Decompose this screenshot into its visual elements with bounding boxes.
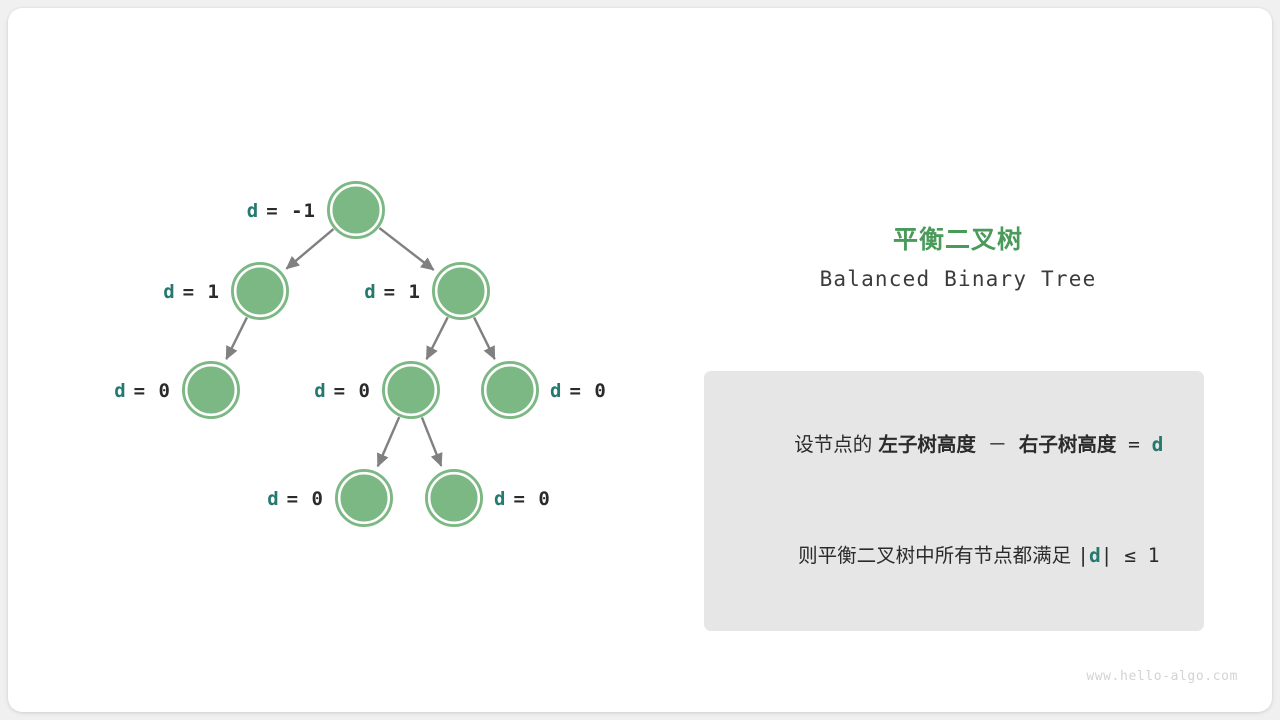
tree-node[interactable] <box>328 182 384 238</box>
tree-edge <box>422 417 441 466</box>
node-balance-label-d: d <box>314 380 326 402</box>
node-balance-label-value: = -1 <box>266 200 316 222</box>
node-balance-label-value: = 0 <box>287 488 324 510</box>
node-balance-label-value: = 1 <box>183 281 220 303</box>
diagram-card: d= -1d= 1d= 1d= 0d= 0d= 0d= 0d= 0 平衡二叉树 … <box>8 8 1272 712</box>
node-balance-label-d: d <box>247 200 259 222</box>
node-balance-label: d= 0 <box>494 488 551 510</box>
info-panel: 平衡二叉树 Balanced Binary Tree 设节点的 左子树高度 － … <box>698 223 1218 291</box>
node-balance-label: d= 1 <box>364 281 421 303</box>
node-balance-label: d= -1 <box>247 200 316 222</box>
node-balance-label-d: d <box>114 380 126 402</box>
node-balance-label-d: d <box>550 380 562 402</box>
tree-node[interactable] <box>426 470 482 526</box>
tree-node-core <box>237 268 283 314</box>
definition-l1-d: d <box>1152 433 1164 456</box>
tree-edge <box>474 317 495 359</box>
tree-node[interactable] <box>336 470 392 526</box>
tree-node[interactable] <box>183 362 239 418</box>
node-balance-label: d= 0 <box>114 380 171 402</box>
node-balance-label-value: = 0 <box>569 380 606 402</box>
page-subtitle: Balanced Binary Tree <box>698 267 1218 291</box>
definition-l2-d: d <box>1089 544 1101 567</box>
node-balance-label-d: d <box>163 281 175 303</box>
tree-node-core <box>188 367 234 413</box>
node-balance-label: d= 0 <box>550 380 607 402</box>
definition-l2-bar-close: | <box>1101 544 1113 567</box>
definition-line-1: 设节点的 左子树高度 － 右子树高度 = d <box>704 389 1204 500</box>
node-balance-label-d: d <box>494 488 506 510</box>
watermark: www.hello-algo.com <box>1086 669 1238 684</box>
tree-edge <box>286 229 333 269</box>
node-balance-label-value: = 0 <box>513 488 550 510</box>
tree-node-core <box>431 475 477 521</box>
node-balance-label-value: = 1 <box>384 281 421 303</box>
node-balance-label-d: d <box>267 488 279 510</box>
tree-node[interactable] <box>232 263 288 319</box>
tree-edge <box>427 317 448 359</box>
tree-node-core <box>438 268 484 314</box>
node-balance-label-value: = 0 <box>134 380 171 402</box>
definition-l1-right-height: 右子树高度 <box>1019 433 1117 456</box>
tree-edge <box>379 228 433 270</box>
tree-node[interactable] <box>383 362 439 418</box>
definition-l2-condition: ≤ 1 <box>1113 544 1160 567</box>
tree-edge <box>378 417 399 466</box>
tree-node[interactable] <box>433 263 489 319</box>
definition-l2-prefix: 则平衡二叉树中所有节点都满足 <box>798 544 1077 567</box>
tree-node[interactable] <box>482 362 538 418</box>
tree-node-labels: d= -1d= 1d= 1d= 0d= 0d= 0d= 0d= 0 <box>114 200 607 510</box>
node-balance-label-value: = 0 <box>334 380 371 402</box>
node-balance-label: d= 0 <box>267 488 324 510</box>
node-balance-label: d= 1 <box>163 281 220 303</box>
tree-edge <box>226 317 247 359</box>
definition-l1-equals: = <box>1116 433 1151 456</box>
tree-node-core <box>487 367 533 413</box>
node-balance-label: d= 0 <box>314 380 371 402</box>
definition-l1-prefix: 设节点的 <box>794 433 878 456</box>
tree-node-core <box>341 475 387 521</box>
definition-l1-minus: － <box>976 433 1019 456</box>
page-title: 平衡二叉树 <box>698 223 1218 257</box>
definition-l1-left-height: 左子树高度 <box>878 433 976 456</box>
tree-nodes <box>183 182 538 526</box>
tree-node-core <box>388 367 434 413</box>
definition-box: 设节点的 左子树高度 － 右子树高度 = d 则平衡二叉树中所有节点都满足 |d… <box>704 371 1204 631</box>
tree-node-core <box>333 187 379 233</box>
node-balance-label-d: d <box>364 281 376 303</box>
definition-l2-bar-open: | <box>1077 544 1089 567</box>
definition-line-2: 则平衡二叉树中所有节点都满足 |d| ≤ 1 <box>704 500 1204 611</box>
